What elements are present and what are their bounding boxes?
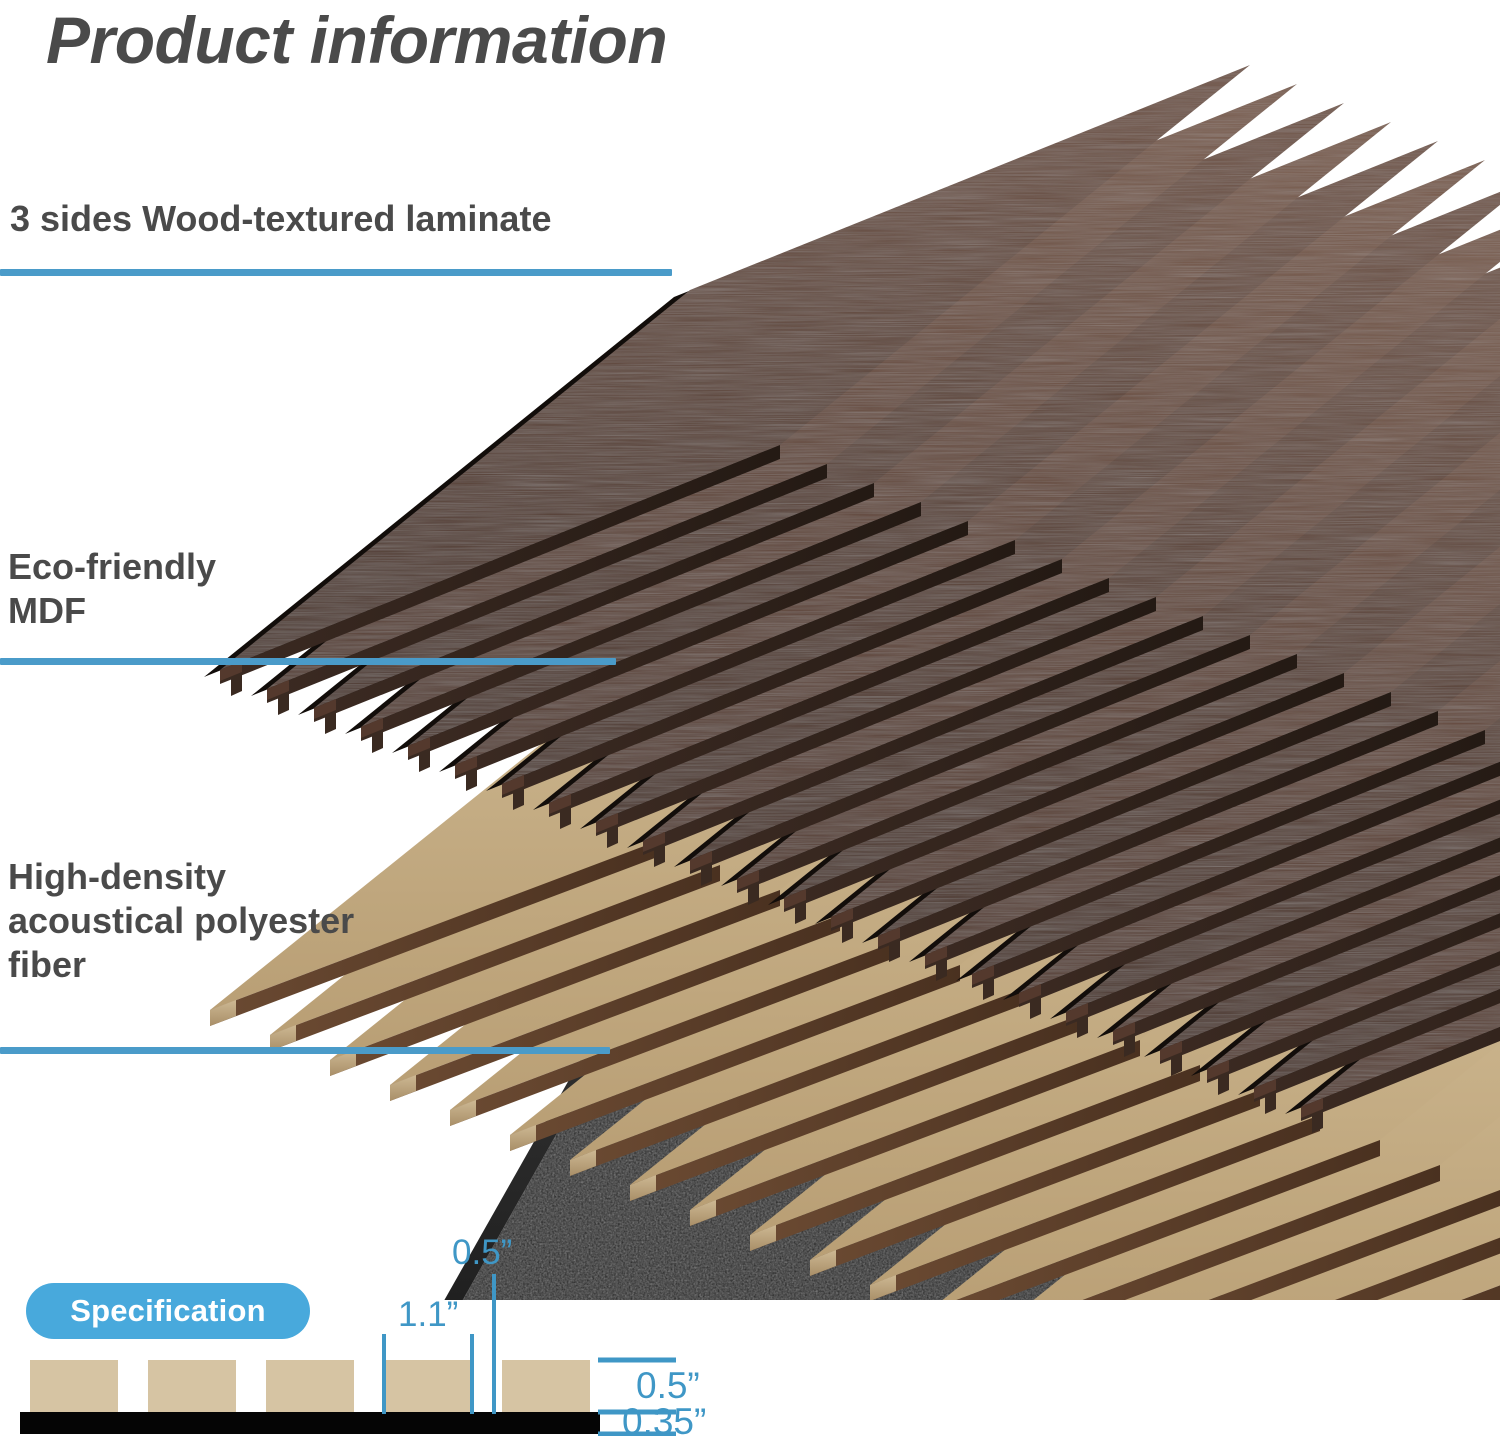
dimension-label-slat-width: 1.1” — [398, 1295, 458, 1334]
callout-label-laminate: 3 sides Wood-textured laminate — [10, 197, 551, 241]
callout-label-acoustic: High-density acoustical polyester fiber — [8, 855, 354, 987]
spec-slat-4 — [384, 1360, 472, 1412]
callout-leader-laminate — [0, 269, 672, 276]
product-information-infographic: Product information 3 sides Wood-texture… — [0, 0, 1500, 1436]
dimension-label-slat-gap: 0.5” — [452, 1233, 512, 1272]
callout-label-mdf: Eco-friendly MDF — [8, 545, 216, 633]
dimension-base-thickness: 0.35” — [598, 1401, 706, 1436]
exploded-panel-illustration — [0, 0, 1500, 1300]
spec-slats — [30, 1360, 590, 1412]
spec-base-layer — [20, 1412, 600, 1434]
spec-slat-1 — [30, 1360, 118, 1412]
spec-slat-2 — [148, 1360, 236, 1412]
spec-slat-5 — [502, 1360, 590, 1412]
spec-slat-3 — [266, 1360, 354, 1412]
specification-cross-section-diagram: 1.1” 0.5” 0.5” 0.35” — [0, 1222, 780, 1436]
page-title: Product information — [46, 2, 667, 78]
dimension-label-slat-height: 0.5” — [636, 1365, 700, 1406]
dimension-label-base-thickness: 0.35” — [622, 1401, 706, 1436]
callout-leader-acoustic — [0, 1047, 610, 1054]
callout-leader-mdf — [0, 658, 616, 665]
